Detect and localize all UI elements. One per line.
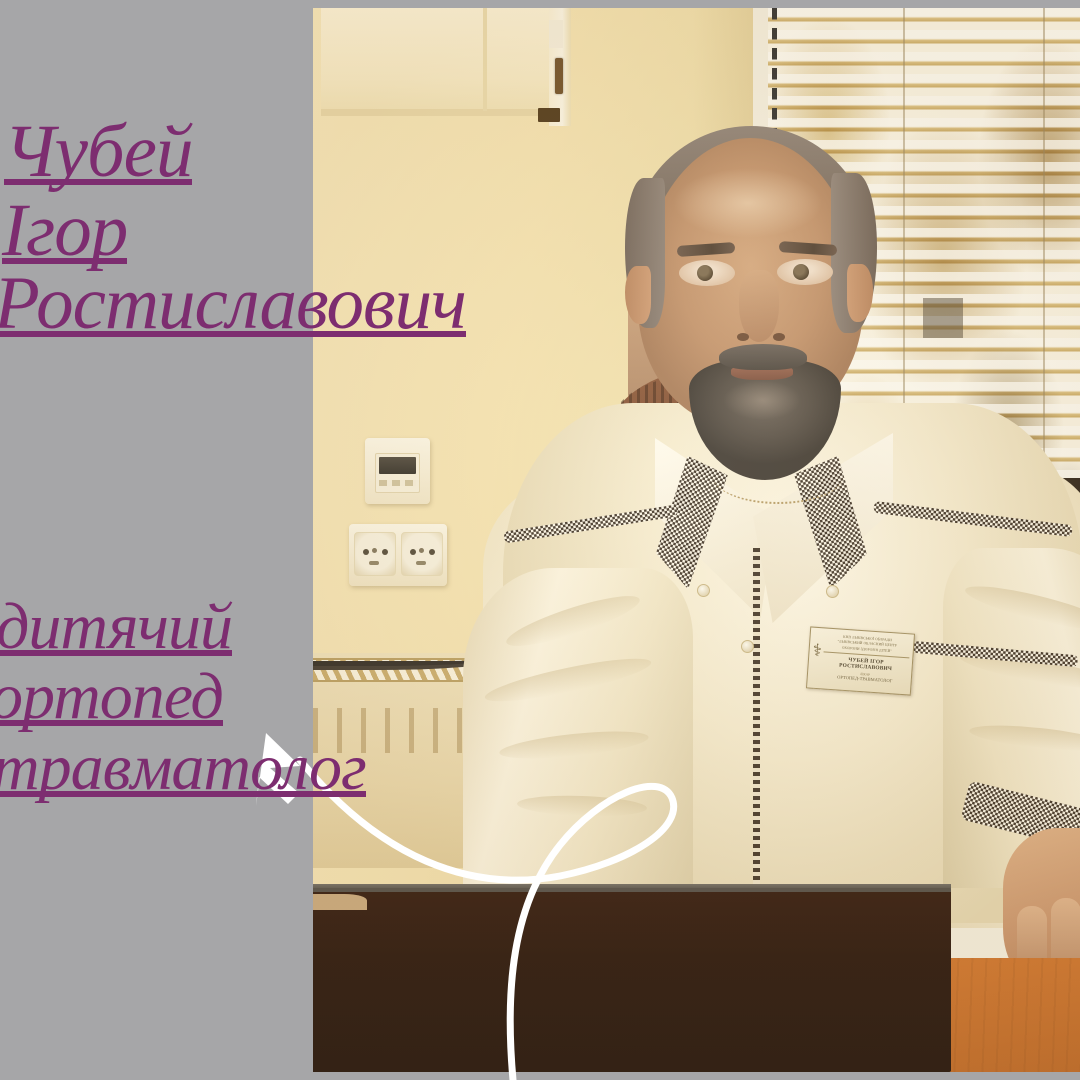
doctor-patronymic: Ростиславович: [0, 268, 466, 340]
doctor-firstname-text: Ігор: [2, 195, 127, 267]
beard-highlight: [723, 380, 801, 420]
electrical-socket-left: [354, 532, 396, 576]
thermostat-display: [379, 457, 416, 474]
laptop-lid: [313, 888, 951, 1072]
doctor-surname: Чубей: [4, 116, 192, 188]
iris-left: [697, 265, 713, 281]
cabinet-latch: [538, 108, 560, 122]
doctor-photo: ⚕ КНП ЛЬВІВСЬКОЇ ОБЛРАДИ "ЛЬВІВСЬКИЙ ОБЛ…: [313, 8, 1080, 1072]
cabinet-handle: [555, 58, 563, 94]
specialty-line-3-text: травматолог: [0, 736, 366, 799]
specialty-line-2-text: ортопед: [0, 665, 223, 728]
specialty-line-2: ортопед: [0, 665, 223, 728]
nostril-left: [737, 333, 749, 341]
ear-left: [625, 266, 651, 324]
window-dark-patch: [923, 298, 963, 338]
forehead-highlight: [673, 168, 823, 238]
name-badge: ⚕ КНП ЛЬВІВСЬКОЇ ОБЛРАДИ "ЛЬВІВСЬКИЙ ОБЛ…: [806, 626, 915, 695]
specialty-line-1: дитячий: [0, 595, 232, 658]
iris-right: [793, 264, 809, 280]
nostril-right: [773, 333, 785, 341]
promo-card: ⚕ КНП ЛЬВІВСЬКОЇ ОБЛРАДИ "ЛЬВІВСЬКИЙ ОБЛ…: [0, 0, 1080, 1080]
doctor-patronymic-text: Ростиславович: [0, 268, 466, 340]
coat-sleeve-left: [463, 568, 693, 928]
nose: [739, 270, 779, 342]
laptop-hinge-left: [313, 894, 367, 910]
cabinet-label: [549, 20, 563, 48]
coat-placket: [753, 548, 760, 928]
specialty-line-3: травматолог: [0, 736, 366, 799]
electrical-socket-right: [401, 532, 443, 576]
doctor-surname-text: Чубей: [4, 116, 192, 188]
specialty-line-1-text: дитячий: [0, 595, 232, 658]
cabinet-door-seam: [483, 8, 487, 111]
coat-button-2: [741, 640, 754, 653]
mustache: [719, 344, 807, 370]
caduceus-icon: ⚕: [811, 642, 823, 671]
thermostat-buttons: [379, 480, 416, 486]
doctor-firstname: Ігор: [2, 195, 127, 267]
coat-button-3: [826, 585, 839, 598]
coat-button-1: [697, 584, 710, 597]
wall-cabinet: [321, 8, 569, 116]
